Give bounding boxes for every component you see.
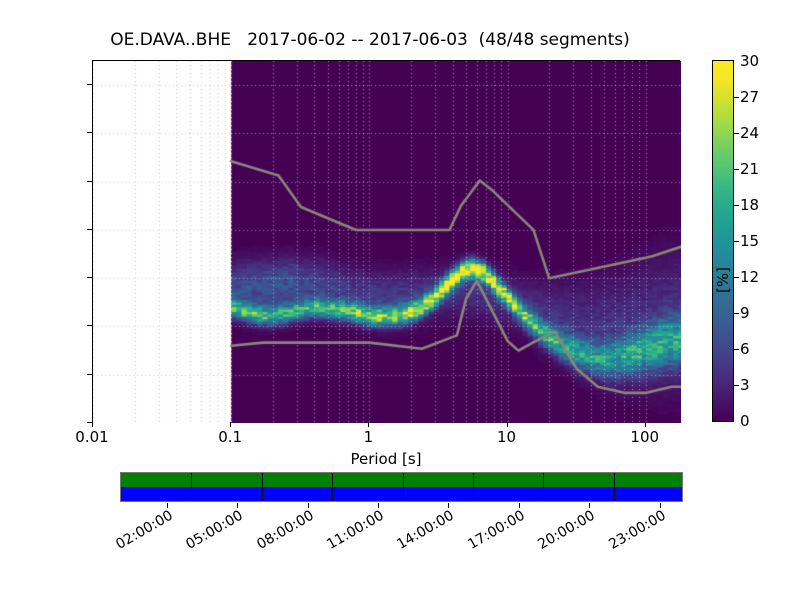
colorbar-tick-mark [734,169,739,170]
x-tick-mark [507,422,508,427]
time-tick-label: 11:00:00 [324,508,386,553]
x-tick-label: 100 [630,428,659,446]
coverage-segment-divider [332,473,333,501]
y-tick-mark [87,325,92,326]
colorbar-tick-label: 9 [740,304,750,322]
coverage-segment-divider [473,473,474,501]
time-tick-label: 05:00:00 [184,508,246,553]
x-tick-mark [645,422,646,427]
coverage-segment-divider [614,473,615,501]
y-tick-mark [87,84,92,85]
ppsd-axes [92,60,680,422]
colorbar-label: [%] [714,210,732,350]
x-tick-label: 10 [497,428,516,446]
coverage-segment-divider [403,473,404,501]
colorbar-tick-mark [734,133,739,134]
time-tick-label: 20:00:00 [535,508,597,553]
coverage-band-blue [121,487,682,501]
colorbar-tick-mark [734,385,739,386]
coverage-segment-divider [543,473,544,501]
x-tick-mark [92,422,93,427]
coverage-segment-divider [262,473,263,501]
y-tick-mark [87,277,92,278]
colorbar-tick-label: 15 [740,232,759,250]
time-tick-label: 02:00:00 [113,508,175,553]
x-axis-label: Period [s] [92,450,680,468]
time-tick-label: 08:00:00 [254,508,316,553]
x-tick-label: 0.1 [218,428,242,446]
colorbar-tick-label: 18 [740,196,759,214]
colorbar-tick-label: 30 [740,52,759,70]
x-tick-mark [368,422,369,427]
x-tick-mark [230,422,231,427]
colorbar-tick-label: 3 [740,376,750,394]
colorbar-tick-label: 12 [740,268,759,286]
time-tick-label: 23:00:00 [606,508,668,553]
colorbar-tick-label: 27 [740,88,759,106]
ppsd-figure: OE.DAVA..BHE 2017-06-02 -- 2017-06-03 (4… [0,0,800,600]
time-tick-label: 17:00:00 [465,508,527,553]
colorbar-tick-label: 6 [740,340,750,358]
time-tick-label: 14:00:00 [395,508,457,553]
ppsd-histogram-canvas [93,61,681,423]
colorbar-tick-label: 0 [740,412,750,430]
colorbar-tick-label: 24 [740,124,759,142]
x-tick-label: 0.01 [75,428,108,446]
y-tick-mark [87,229,92,230]
colorbar-tick-mark [734,205,739,206]
colorbar-tick-mark [734,277,739,278]
y-tick-mark [87,374,92,375]
time-coverage-bar[interactable] [120,472,683,502]
colorbar-tick-label: 21 [740,160,759,178]
coverage-segment-divider [191,473,192,501]
page-title: OE.DAVA..BHE 2017-06-02 -- 2017-06-03 (4… [0,30,740,50]
y-tick-mark [87,132,92,133]
colorbar-tick-mark [734,313,739,314]
x-tick-label: 1 [364,428,374,446]
colorbar-tick-mark [734,241,739,242]
y-tick-mark [87,181,92,182]
coverage-band-green [121,473,682,487]
colorbar-tick-mark [734,97,739,98]
colorbar-tick-mark [734,349,739,350]
